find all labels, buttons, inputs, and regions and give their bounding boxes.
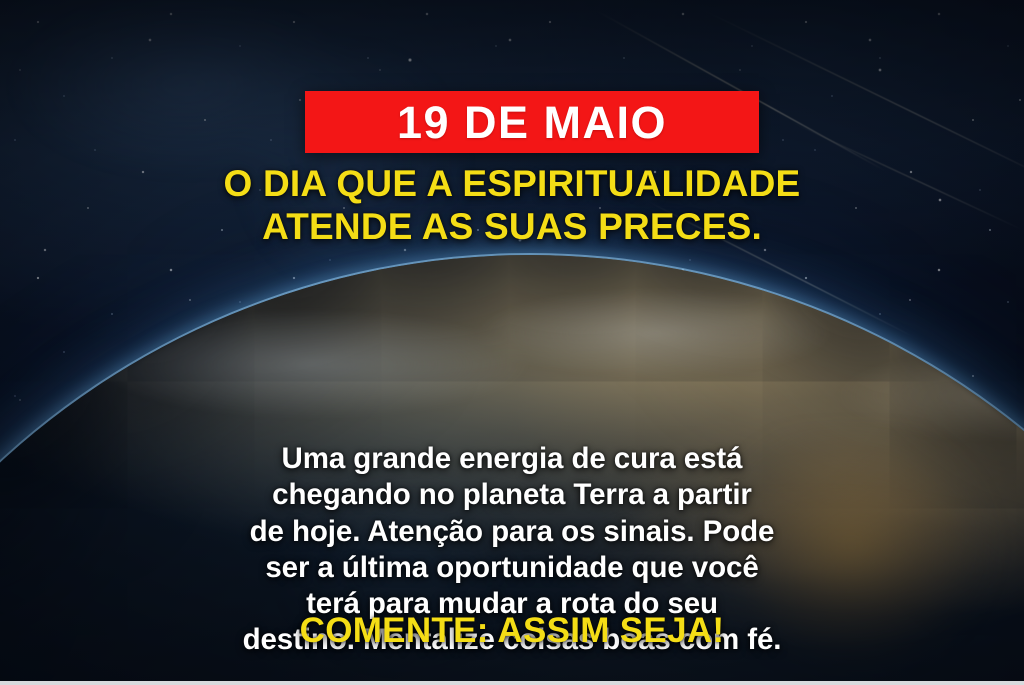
social-media-poster: 19 DE MAIO O DIA QUE A ESPIRITUALIDADE A… — [0, 0, 1024, 685]
body-line-3: de hoje. Atenção para os sinais. Pode — [52, 514, 972, 550]
headline-line-2: ATENDE AS SUAS PRECES. — [48, 206, 976, 249]
body-line-2: chegando no planeta Terra a partir — [52, 477, 972, 513]
poster-content: 19 DE MAIO O DIA QUE A ESPIRITUALIDADE A… — [0, 0, 1024, 685]
call-to-action: COMENTE: ASSIM SEJA! — [0, 612, 1024, 651]
date-banner-label: 19 DE MAIO — [397, 100, 667, 145]
body-line-1: Uma grande energia de cura está — [52, 441, 972, 477]
headline: O DIA QUE A ESPIRITUALIDADE ATENDE AS SU… — [0, 163, 1024, 249]
bottom-edge-strip — [0, 681, 1024, 685]
body-line-4: ser a última oportunidade que você — [52, 550, 972, 586]
call-to-action-label: COMENTE: ASSIM SEJA! — [300, 611, 725, 650]
date-banner: 19 DE MAIO — [305, 91, 759, 153]
headline-line-1: O DIA QUE A ESPIRITUALIDADE — [48, 163, 976, 206]
